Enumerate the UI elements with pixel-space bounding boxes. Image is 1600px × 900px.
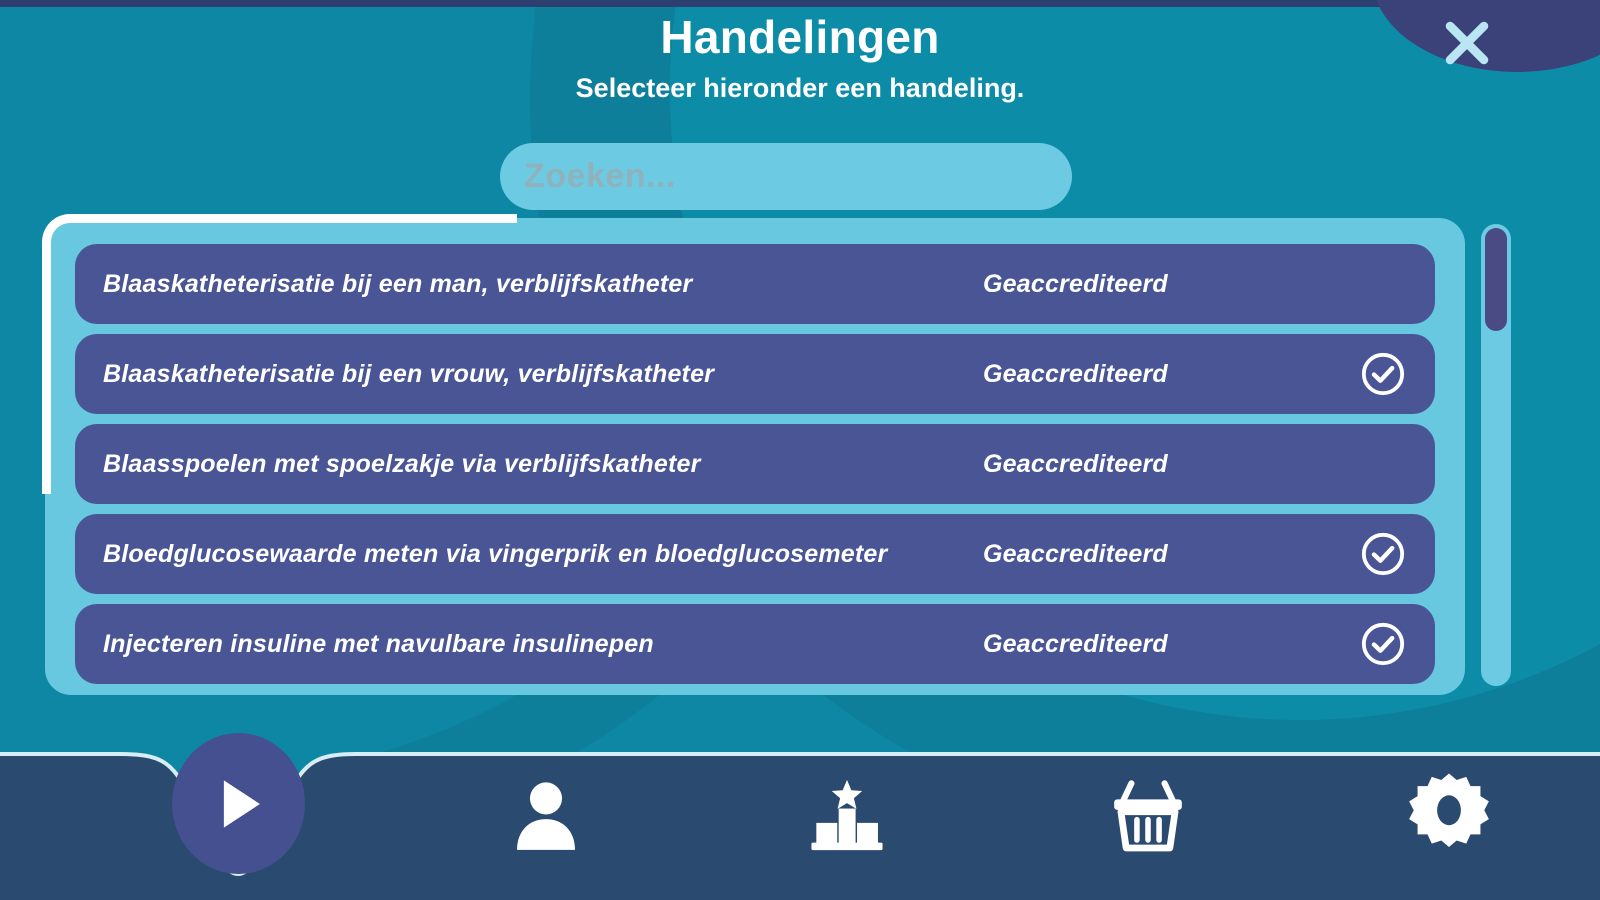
search-placeholder: Zoeken... — [500, 157, 676, 196]
check-circle-icon[interactable] — [1353, 621, 1413, 667]
list-scrollbar[interactable] — [1481, 224, 1511, 686]
list-item[interactable]: Blaasspoelen met spoelzakje via verblijf… — [75, 424, 1435, 504]
nav-item-shop[interactable] — [998, 732, 1299, 900]
navbar-items — [395, 732, 1600, 900]
person-icon — [509, 774, 583, 858]
play-icon — [206, 771, 272, 837]
play-button[interactable] — [172, 733, 305, 874]
list-item[interactable]: Blaaskatheterisatie bij een vrouw, verbl… — [75, 334, 1435, 414]
check-circle-icon[interactable] — [1353, 351, 1413, 397]
list-item[interactable]: Injecteren insuline met navulbare insuli… — [75, 604, 1435, 684]
handelingen-panel: Blaaskatheterisatie bij een man, verblij… — [45, 218, 1465, 695]
list-item-label: Blaaskatheterisatie bij een vrouw, verbl… — [103, 355, 983, 393]
list-item[interactable]: Blaaskatheterisatie bij een man, verblij… — [75, 244, 1435, 324]
list-item-label: Bloedglucosewaarde meten via vingerprik … — [103, 535, 983, 573]
top-status-strip — [0, 0, 1600, 7]
gear-icon — [1403, 770, 1495, 862]
dialog-header: Handelingen Selecteer hieronder een hand… — [0, 8, 1600, 108]
handelingen-panel-surface: Blaaskatheterisatie bij een man, verblij… — [45, 218, 1465, 695]
nav-item-settings[interactable] — [1299, 732, 1600, 900]
list-item-label: Blaasspoelen met spoelzakje via verblijf… — [103, 445, 983, 483]
list-item[interactable]: Bloedglucosewaarde meten via vingerprik … — [75, 514, 1435, 594]
nav-item-leaderboard[interactable] — [696, 732, 997, 900]
handelingen-list[interactable]: Blaaskatheterisatie bij een man, verblij… — [75, 244, 1435, 684]
status-badge: Geaccrediteerd — [983, 450, 1353, 479]
status-badge: Geaccrediteerd — [983, 270, 1353, 299]
list-item-label: Injecteren insuline met navulbare insuli… — [103, 625, 983, 663]
page-title: Handelingen — [0, 8, 1600, 66]
status-badge: Geaccrediteerd — [983, 540, 1353, 569]
list-item-label: Blaaskatheterisatie bij een man, verblij… — [103, 265, 983, 303]
check-circle-icon[interactable] — [1353, 531, 1413, 577]
app-root: Handelingen Selecteer hieronder een hand… — [0, 0, 1600, 900]
nav-item-profile[interactable] — [395, 732, 696, 900]
close-icon[interactable] — [1438, 14, 1496, 72]
search-input[interactable]: Zoeken... — [500, 143, 1072, 210]
status-badge: Geaccrediteerd — [983, 630, 1353, 659]
basket-icon — [1108, 774, 1188, 858]
status-badge: Geaccrediteerd — [983, 360, 1353, 389]
scrollbar-thumb[interactable] — [1485, 228, 1507, 331]
page-subtitle: Selecteer hieronder een handeling. — [0, 68, 1600, 108]
podium-star-icon — [804, 774, 890, 858]
